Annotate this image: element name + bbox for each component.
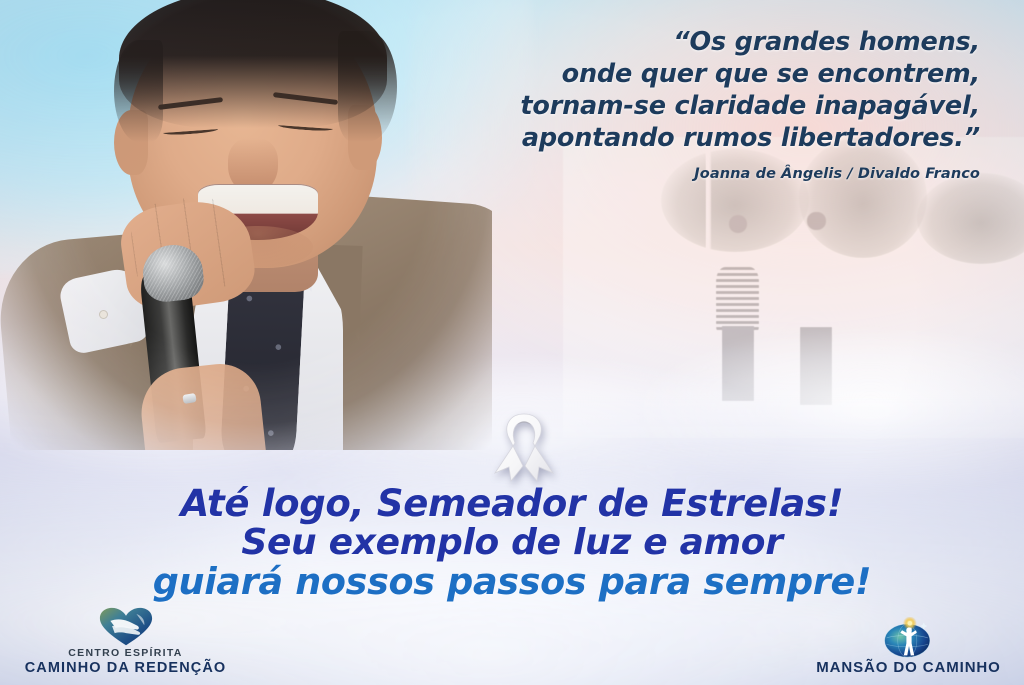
- quote-line-3: tornam-se claridade inapagável,: [360, 90, 980, 122]
- logo-centro-espirita-line1: CENTRO ESPÍRITA: [18, 647, 233, 660]
- headline-line-2: Seu exemplo de luz e amor: [0, 523, 1024, 562]
- headline-line-1: Até logo, Semeador de Estrelas!: [0, 484, 1024, 523]
- logo-mansao-do-caminho[interactable]: MANSÃO DO CAMINHO: [801, 619, 1016, 677]
- headline-line-3: guiará nossos passos para sempre!: [0, 562, 1024, 601]
- heart-with-hands-icon: [18, 607, 233, 647]
- memorial-poster: “Os grandes homens, onde quer que se enc…: [0, 0, 1024, 685]
- headline-block: Até logo, Semeador de Estrelas! Seu exem…: [0, 484, 1024, 601]
- quote-line-1: “Os grandes homens,: [360, 26, 980, 58]
- globe-with-figure-icon: [801, 619, 1016, 659]
- quote-block: “Os grandes homens, onde quer que se enc…: [360, 26, 980, 182]
- quote-line-4: apontando rumos libertadores.”: [360, 122, 980, 154]
- quote-attribution: Joanna de Ângelis / Divaldo Franco: [360, 166, 980, 182]
- logo-mansao-do-caminho-label: MANSÃO DO CAMINHO: [801, 659, 1016, 677]
- logo-centro-espirita[interactable]: CENTRO ESPÍRITA CAMINHO DA REDENÇÃO: [18, 607, 233, 677]
- quote-line-2: onde quer que se encontrem,: [360, 58, 980, 90]
- logo-centro-espirita-line2: CAMINHO DA REDENÇÃO: [18, 660, 233, 677]
- white-ribbon-icon: [487, 409, 561, 485]
